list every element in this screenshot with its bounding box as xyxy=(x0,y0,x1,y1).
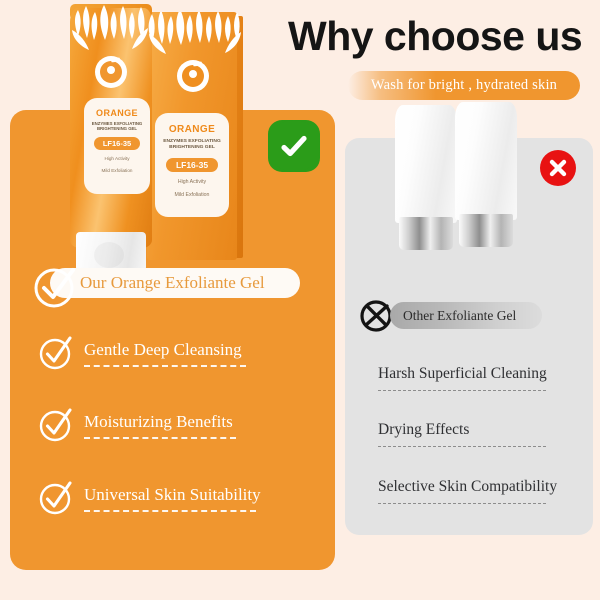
drawback-label-1: Harsh Superficial Cleaning xyxy=(378,365,547,383)
check-circle-icon xyxy=(32,262,80,310)
white-tube-body xyxy=(455,102,517,220)
check-glyph-icon xyxy=(277,129,311,163)
box-label-brand: ORANGE xyxy=(169,124,215,135)
tube-label-description: ENZYMES EXFOLIATING BRIGHTENING GEL xyxy=(84,121,150,131)
our-product-heading-label: Our Orange Exfoliante Gel xyxy=(50,273,265,293)
benefit-label-1: Gentle Deep Cleansing xyxy=(84,340,242,360)
red-x-badge xyxy=(540,150,576,186)
white-tube-cap xyxy=(459,214,513,247)
our-product-heading-pill: Our Orange Exfoliante Gel xyxy=(50,268,300,298)
box-label-description: ENZYMES EXFOLIATING BRIGHTENING GEL xyxy=(155,139,229,151)
benefit-underline-3 xyxy=(84,510,256,512)
green-check-badge xyxy=(268,120,320,172)
benefit-underline-2 xyxy=(84,437,236,439)
box-label-code: LF16-35 xyxy=(166,158,218,172)
box-label-claim-1: High Activity xyxy=(178,179,206,186)
check-circle-icon xyxy=(38,478,76,516)
subtitle-pill: Wash for bright , hydrated skin xyxy=(348,71,580,100)
leaf-pattern-decoration xyxy=(10,0,335,120)
benefit-label-3: Universal Skin Suitability xyxy=(84,485,261,505)
benefit-label-2: Moisturizing Benefits xyxy=(84,412,233,432)
comparison-infographic: Why choose us Wash for bright , hydrated… xyxy=(0,0,600,600)
drawback-label-2: Drying Effects xyxy=(378,421,469,439)
drawback-underline-1 xyxy=(378,390,546,391)
tube-label: ORANGE ENZYMES EXFOLIATING BRIGHTENING G… xyxy=(84,98,150,194)
check-circle-icon xyxy=(38,333,76,371)
green-check-circle-icon xyxy=(268,120,320,172)
white-tube-1 xyxy=(395,105,457,250)
other-product-heading-label: Other Exfoliante Gel xyxy=(390,308,516,324)
drawback-underline-2 xyxy=(378,446,546,447)
subtitle-text: Wash for bright , hydrated skin xyxy=(371,77,557,94)
drawback-label-3: Selective Skin Compatibility xyxy=(378,478,557,496)
white-tube-cap xyxy=(399,217,453,250)
check-circle-icon xyxy=(38,405,76,443)
tube-label-code: LF16-35 xyxy=(94,137,140,150)
white-tube-body xyxy=(395,105,457,223)
tube-label-brand: ORANGE xyxy=(96,108,138,118)
white-tube-2 xyxy=(455,102,517,247)
drawback-underline-3 xyxy=(378,503,546,504)
tube-label-claim-1: High Activity xyxy=(104,156,129,162)
tube-label-claim-2: Mild Exfoliation xyxy=(102,168,133,174)
benefit-underline-1 xyxy=(84,365,246,367)
other-product-heading-pill: Other Exfoliante Gel xyxy=(390,302,542,329)
box-label-claim-2: Mild Exfoliation xyxy=(175,192,210,199)
other-product-artwork xyxy=(345,100,593,275)
x-glyph-icon xyxy=(547,157,569,179)
box-label: ORANGE ENZYMES EXFOLIATING BRIGHTENING G… xyxy=(155,113,229,217)
